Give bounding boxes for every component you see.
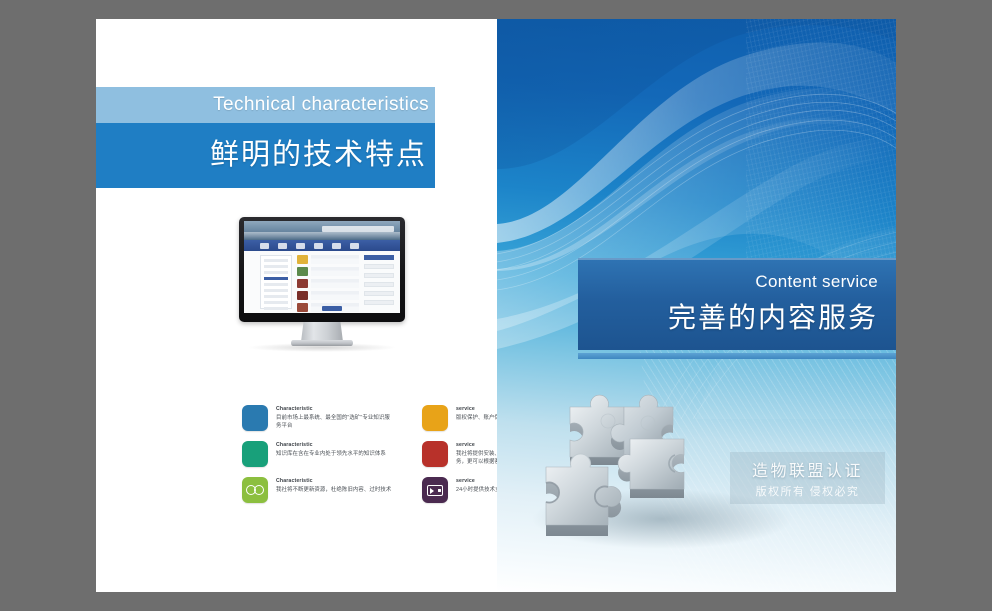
- monitor-stand-neck: [301, 322, 343, 342]
- website-sidebar-tree: [260, 255, 292, 309]
- result-thumb: [297, 267, 308, 276]
- plain-square-icon: [242, 405, 268, 431]
- nav-item: [296, 243, 305, 249]
- nav-item: [278, 243, 287, 249]
- monitor-illustration: [239, 217, 405, 352]
- panel-row: [364, 273, 394, 278]
- tree-row: [264, 289, 288, 292]
- feature-description: 知识库在含在专业内处于领先水平的知识体系: [276, 450, 392, 458]
- tree-row-selected: [264, 277, 288, 280]
- monitor-bezel: [239, 217, 405, 322]
- plain-square-icon: [242, 441, 268, 467]
- list-item: service 我社将提供安装、调试、维护、更新等一站式服务，更可以根据客户需求…: [422, 441, 497, 467]
- tree-row: [264, 265, 288, 268]
- right-title-underline: [578, 353, 896, 359]
- result-thumb: [297, 303, 308, 312]
- website-hero-banner: [244, 221, 400, 240]
- right-title-block: Content service 完善的内容服务: [578, 258, 896, 367]
- list-item: Characteristic 知识库在含在专业内处于领先水平的知识体系: [242, 441, 392, 467]
- feature-description: 版权保护、账户保护功能完善: [456, 414, 497, 422]
- panel-row: [364, 282, 394, 287]
- result-text: [311, 267, 359, 276]
- list-item: service 版权保护、账户保护功能完善: [422, 405, 497, 431]
- panel-row: [364, 264, 394, 269]
- feature-description: 目前市场上最系统、最全国的"选矿"专业知识服务平台: [276, 414, 392, 430]
- website-body: [244, 251, 400, 313]
- panel-row: [364, 300, 394, 305]
- nav-item: [260, 243, 269, 249]
- tree-row: [264, 271, 288, 274]
- feature-kicker: service: [456, 478, 497, 485]
- feature-kicker: service: [456, 406, 497, 413]
- feature-lists: Characteristic 目前市场上最系统、最全国的"选矿"专业知识服务平台…: [242, 405, 497, 520]
- monitor-shadow: [247, 343, 397, 352]
- panel-row: [364, 291, 394, 296]
- result-text: [311, 279, 359, 288]
- list-item: Characteristic 目前市场上最系统、最全国的"选矿"专业知识服务平台: [242, 405, 392, 431]
- right-title-chinese: 完善的内容服务: [578, 296, 896, 336]
- nav-item: [314, 243, 323, 249]
- feature-kicker: Characteristic: [276, 478, 392, 485]
- left-title-block: Technical characteristics 鲜明的技术特点: [96, 87, 435, 188]
- tree-row: [264, 283, 288, 286]
- website-primary-button: [322, 306, 342, 311]
- feature-kicker: Characteristic: [276, 406, 392, 413]
- result-thumb: [297, 291, 308, 300]
- tree-row: [264, 307, 288, 310]
- result-thumb: [297, 279, 308, 288]
- left-title-english: Technical characteristics: [96, 87, 435, 123]
- voicemail-glyph: [246, 485, 264, 495]
- result-thumb: [297, 255, 308, 264]
- result-item: [297, 279, 359, 288]
- list-item: Characteristic 我社将不断更新资源，杜绝陈旧内容、过时技术: [242, 477, 392, 503]
- feature-column-left: Characteristic 目前市场上最系统、最全国的"选矿"专业知识服务平台…: [242, 405, 392, 513]
- watermark-sub-text: 版权所有 侵权必究: [756, 483, 860, 499]
- feature-description: 我社将不断更新资源，杜绝陈旧内容、过时技术: [276, 486, 392, 494]
- left-page: Technical characteristics 鲜明的技术特点: [96, 19, 497, 592]
- watermark: 造物联盟认证 版权所有 侵权必究: [730, 452, 885, 504]
- plain-square-icon: [422, 441, 448, 467]
- tree-row: [264, 295, 288, 298]
- plain-square-icon: [422, 405, 448, 431]
- feature-kicker: service: [456, 442, 497, 449]
- result-text: [311, 255, 359, 264]
- monitor-screen: [244, 221, 400, 313]
- result-item: [297, 255, 359, 264]
- feature-description: 我社将提供安装、调试、维护、更新等一站式服务，更可以根据客户需求定制资源内容。: [456, 450, 497, 466]
- right-title-english: Content service: [578, 272, 896, 292]
- voicemail-icon: [242, 477, 268, 503]
- website-nav-bar: [244, 240, 400, 251]
- nav-item: [332, 243, 341, 249]
- left-title-chinese: 鲜明的技术特点: [96, 123, 435, 181]
- ticket-icon: [422, 477, 448, 503]
- tree-row: [264, 301, 288, 304]
- website-right-panel: [364, 255, 394, 309]
- band-highlight: [578, 258, 896, 260]
- result-text: [311, 291, 359, 300]
- right-page: Content service 完善的内容服务: [497, 19, 896, 592]
- feature-description: 24小时提供技术支持: [456, 486, 497, 494]
- brochure-canvas: Technical characteristics 鲜明的技术特点: [0, 0, 992, 611]
- result-item: [297, 267, 359, 276]
- list-item: service 24小时提供技术支持: [422, 477, 497, 503]
- panel-row-highlight: [364, 255, 394, 260]
- watermark-main-text: 造物联盟认证: [752, 457, 863, 481]
- tree-row: [264, 259, 288, 262]
- ticket-glyph: [427, 485, 443, 496]
- feature-column-right: service 版权保护、账户保护功能完善 service 我社将提供安装、调试…: [422, 405, 497, 513]
- nav-item: [350, 243, 359, 249]
- website-hero-title-bar: [322, 226, 394, 232]
- website-result-list: [297, 255, 359, 309]
- feature-kicker: Characteristic: [276, 442, 392, 449]
- result-item: [297, 291, 359, 300]
